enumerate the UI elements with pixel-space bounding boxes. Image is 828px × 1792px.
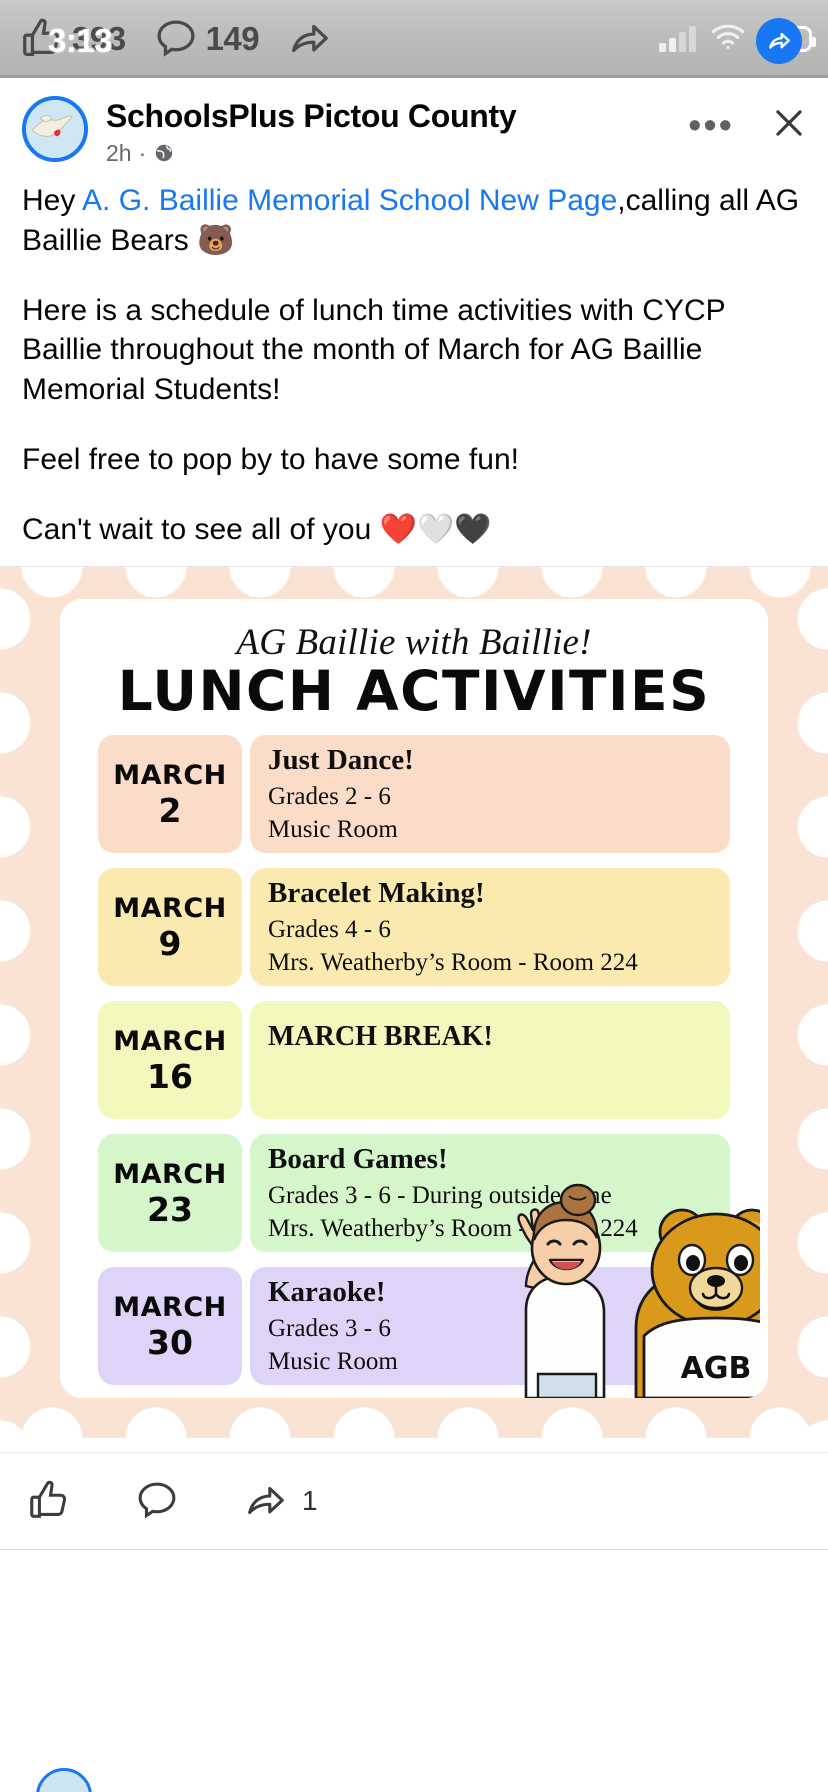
- schedule-day: 16: [147, 1058, 193, 1096]
- schedule-month: MARCH: [113, 1158, 226, 1192]
- close-icon[interactable]: [770, 104, 808, 149]
- paragraph-gap: [22, 480, 806, 510]
- share-arrow-icon[interactable]: [281, 11, 337, 67]
- page-name[interactable]: SchoolsPlus Pictou County: [106, 98, 516, 135]
- post-text: Hey A. G. Baillie Memorial School New Pa…: [0, 173, 828, 566]
- activity-title: Board Games!: [268, 1141, 712, 1179]
- activity-line: Mrs. Weatherby’s Room - Room 224: [268, 946, 712, 979]
- share-count: 1: [302, 1485, 318, 1517]
- post-text-cant-wait: Can't wait to see all of you: [22, 513, 380, 546]
- comment-button[interactable]: [134, 1478, 180, 1524]
- schedule-day: 2: [159, 792, 182, 830]
- post-timestamp: 2h: [106, 140, 132, 167]
- activity-title: Karaoke!: [268, 1274, 712, 1312]
- hearts-emoji: ❤️🤍🖤: [380, 512, 492, 547]
- schedule-row: MARCH 16 MARCH BREAK!: [98, 1001, 730, 1119]
- schedule-day: 30: [147, 1324, 193, 1362]
- activity-line: Grades 3 - 6: [268, 1312, 712, 1345]
- like-button[interactable]: [26, 1478, 72, 1524]
- schedule-row: MARCH 30 Karaoke! Grades 3 - 6 Music Roo…: [98, 1267, 730, 1385]
- activity-line: Music Room: [268, 813, 712, 846]
- activity-line: Grades 4 - 6: [268, 913, 712, 946]
- schedule-detail-cell: MARCH BREAK!: [250, 1001, 730, 1119]
- schedule-date-cell: MARCH 2: [98, 735, 242, 853]
- share-button[interactable]: 1: [242, 1478, 318, 1524]
- paragraph-gap: [22, 261, 806, 291]
- schedule-month: MARCH: [113, 1025, 226, 1059]
- schedule-list: MARCH 2 Just Dance! Grades 2 - 6 Music R…: [98, 735, 730, 1385]
- schedule-detail-cell: Karaoke! Grades 3 - 6 Music Room: [250, 1267, 730, 1385]
- schedule-day: 23: [147, 1191, 193, 1229]
- activity-line: Mrs. Weatherby’s Room - Room 224: [268, 1212, 712, 1245]
- post-paragraph-1: Hey A. G. Baillie Memorial School New Pa…: [22, 181, 806, 261]
- post-image-flyer[interactable]: AG Baillie with Baillie! LUNCH ACTIVITIE…: [0, 566, 828, 1438]
- page-mention-link[interactable]: A. G. Baillie Memorial School New Page: [82, 184, 617, 217]
- post-text-comma: ,: [617, 184, 625, 217]
- activity-line: Grades 3 - 6 - During outside time: [268, 1179, 712, 1212]
- meta-separator: ·: [139, 140, 147, 167]
- activity-line: Grades 2 - 6: [268, 780, 712, 813]
- post-action-bar: 1: [0, 1452, 828, 1550]
- post-paragraph-2: Here is a schedule of lunch time activit…: [22, 291, 806, 411]
- activity-title: Bracelet Making!: [268, 875, 712, 913]
- schedule-date-cell: MARCH 16: [98, 1001, 242, 1119]
- activity-title: Just Dance!: [268, 742, 712, 780]
- post-meta: 2h ·: [106, 140, 516, 167]
- post-paragraph-4: Can't wait to see all of you ❤️🤍🖤: [22, 510, 806, 550]
- post-text-hey: Hey: [22, 184, 82, 217]
- share-badge-icon[interactable]: [756, 18, 802, 64]
- schedule-day: 9: [159, 925, 182, 963]
- schedule-date-cell: MARCH 9: [98, 868, 242, 986]
- comment-composer-area: [0, 1554, 828, 1792]
- comment-count: 149: [206, 20, 260, 58]
- schedule-detail-cell: Board Games! Grades 3 - 6 - During outsi…: [250, 1134, 730, 1252]
- scallop-border-bottom: [0, 1392, 828, 1438]
- schedule-detail-cell: Just Dance! Grades 2 - 6 Music Room: [250, 735, 730, 853]
- more-options-icon[interactable]: •••: [688, 119, 734, 134]
- activity-title: MARCH BREAK!: [268, 1019, 712, 1055]
- post-header-actions: •••: [688, 104, 808, 149]
- paragraph-gap: [22, 410, 806, 440]
- flyer-title: LUNCH ACTIVITIES: [98, 662, 730, 721]
- post-header: SchoolsPlus Pictou County 2h · •••: [0, 78, 828, 173]
- schedule-date-cell: MARCH 23: [98, 1134, 242, 1252]
- cellular-signal-icon: [659, 26, 696, 52]
- schedule-detail-cell: Bracelet Making! Grades 4 - 6 Mrs. Weath…: [250, 868, 730, 986]
- globe-icon: [153, 142, 175, 164]
- scallop-border-left: [0, 567, 46, 1438]
- schedule-date-cell: MARCH 30: [98, 1267, 242, 1385]
- schedule-month: MARCH: [113, 759, 226, 793]
- schedule-month: MARCH: [113, 892, 226, 926]
- status-bar: 393 149 3:13: [0, 0, 828, 78]
- system-status-icons: [659, 0, 812, 78]
- clock-time: 3:13: [48, 22, 112, 60]
- activity-line: Music Room: [268, 1345, 712, 1378]
- schedule-row: MARCH 2 Just Dance! Grades 2 - 6 Music R…: [98, 735, 730, 853]
- wifi-icon: [710, 23, 746, 56]
- schedule-row: MARCH 23 Board Games! Grades 3 - 6 - Dur…: [98, 1134, 730, 1252]
- post-paragraph-3: Feel free to pop by to have some fun!: [22, 440, 806, 480]
- post-header-text: SchoolsPlus Pictou County 2h ·: [106, 96, 516, 167]
- scallop-border-right: [782, 567, 828, 1438]
- bear-emoji: 🐻: [197, 223, 234, 258]
- flyer-subtitle: AG Baillie with Baillie!: [98, 621, 730, 664]
- flyer-card: AG Baillie with Baillie! LUNCH ACTIVITIE…: [60, 599, 768, 1398]
- schedule-month: MARCH: [113, 1291, 226, 1325]
- facebook-post-screen: 393 149 3:13: [0, 0, 828, 1792]
- schedule-row: MARCH 9 Bracelet Making! Grades 4 - 6 Mr…: [98, 868, 730, 986]
- page-avatar-nova-scotia-map[interactable]: [22, 96, 88, 162]
- comment-bubble-icon[interactable]: [148, 11, 204, 67]
